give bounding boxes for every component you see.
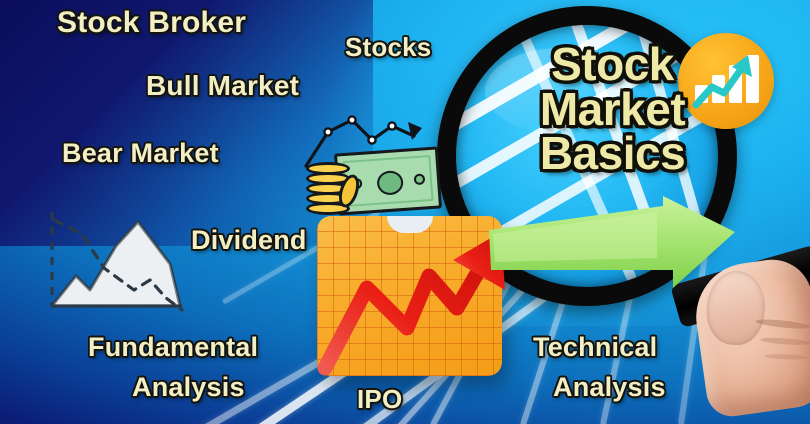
title-line-3: Basics [505, 131, 720, 176]
poster-canvas: Stock Market Basics Stock Broker Bull Ma… [0, 0, 810, 424]
money-and-coins-icon [300, 112, 440, 222]
term-fundamental-line-2: Analysis [132, 372, 245, 403]
title-line-2: Market [505, 87, 720, 132]
term-ipo: IPO [357, 384, 402, 415]
orange-grid-chart-card-icon [317, 216, 502, 376]
term-fundamental-line-1: Fundamental [88, 332, 258, 363]
mountain-area-chart-icon [42, 206, 190, 316]
term-stocks: Stocks [345, 32, 431, 63]
title-line-1: Stock [505, 42, 720, 87]
card-notch [387, 216, 433, 233]
term-technical-line-1: Technical [533, 332, 657, 363]
term-technical-line-2: Analysis [553, 372, 666, 403]
page-title: Stock Market Basics [505, 42, 720, 176]
green-right-arrow-icon [487, 196, 737, 304]
term-bull-market: Bull Market [146, 70, 299, 102]
term-dividend: Dividend [191, 225, 307, 256]
term-stock-broker: Stock Broker [57, 6, 246, 40]
term-bear-market: Bear Market [62, 138, 219, 169]
